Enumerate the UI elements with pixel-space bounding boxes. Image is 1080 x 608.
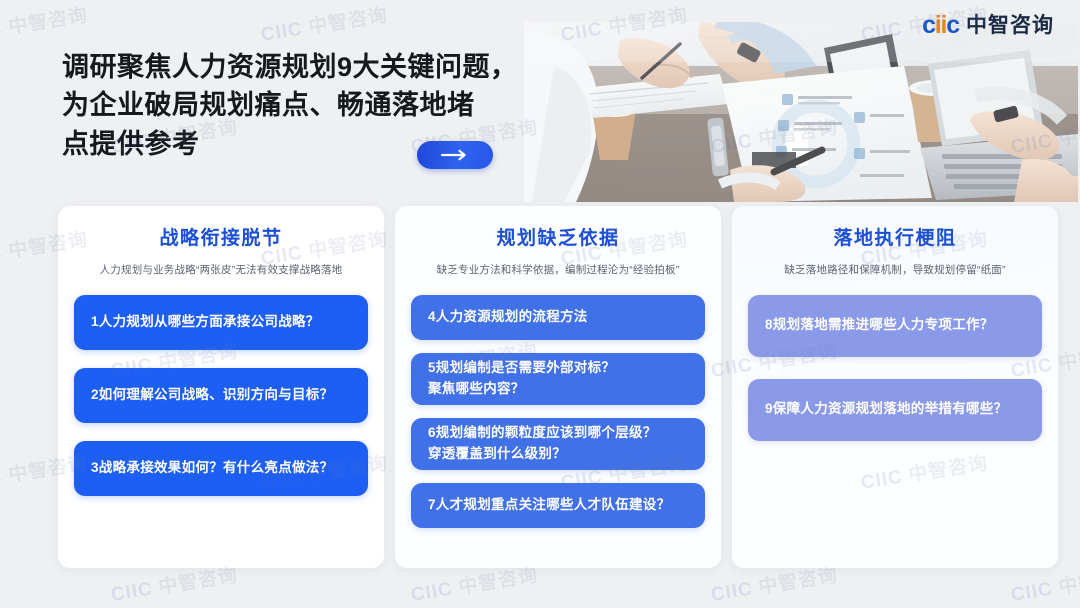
question-pill-1[interactable]: 1人力规划从哪些方面承接公司战略？ — [74, 295, 368, 350]
card-execution-blockage: 落地执行梗阻 缺乏落地路径和保障机制，导致规划停留“纸面” 8规划落地需推进哪些… — [732, 206, 1058, 568]
question-pill-9-line-1: 9保障人力资源规划落地的举措有哪些？ — [765, 399, 1007, 419]
question-pill-8[interactable]: 8规划落地需推进哪些人力专项工作？ — [748, 295, 1042, 357]
question-pill-6[interactable]: 6规划编制的颗粒度应该到哪个层级？ 穿透覆盖到什么级别？ — [411, 418, 705, 470]
question-pill-5[interactable]: 5规划编制是否需要外部对标？ 聚焦哪些内容？ — [411, 353, 705, 405]
card-question-list: 1人力规划从哪些方面承接公司战略？ 2如何理解公司战略、识别方向与目标？ 3战略… — [74, 295, 368, 496]
card-question-list: 4人力资源规划的流程方法 5规划编制是否需要外部对标？ 聚焦哪些内容？ 6规划编… — [411, 295, 705, 528]
question-pill-8-line-1: 8规划落地需推进哪些人力专项工作？ — [765, 315, 994, 335]
question-pill-1-line-1: 1人力规划从哪些方面承接公司战略？ — [91, 312, 320, 332]
question-pill-4-line-1: 4人力资源规划的流程方法 — [428, 307, 588, 327]
logo-chinese-name: 中智咨询 — [966, 15, 1054, 36]
question-pill-6-line-1: 6规划编制的颗粒度应该到哪个层级？ — [428, 423, 657, 443]
meeting-photo-illustration — [524, 22, 1078, 202]
question-pill-9[interactable]: 9保障人力资源规划落地的举措有哪些？ — [748, 379, 1042, 441]
question-pill-2-line-1: 2如何理解公司战略、识别方向与目标？ — [91, 385, 333, 405]
logo-letter-c1: c — [922, 11, 935, 39]
card-title: 战略衔接脱节 — [74, 228, 368, 251]
question-pill-5-line-2: 聚焦哪些内容？ — [428, 379, 615, 399]
brand-logo: ciic 中智咨询 — [922, 13, 1054, 38]
card-title: 落地执行梗阻 — [748, 228, 1042, 251]
issue-cards-row: 战略衔接脱节 人力规划与业务战略“两张皮”无法有效支撑战略落地 1人力规划从哪些… — [0, 206, 1080, 568]
card-lack-of-basis: 规划缺乏依据 缺乏专业方法和科学依据，编制过程沦为“经验拍板” 4人力资源规划的… — [395, 206, 721, 568]
page-title-line-1: 调研聚焦人力资源规划9大关键问题， — [62, 48, 532, 86]
question-pill-2[interactable]: 2如何理解公司战略、识别方向与目标？ — [74, 368, 368, 423]
logo-letter-c2: c — [946, 11, 959, 39]
arrow-right-icon — [440, 149, 470, 161]
question-pill-6-line-2: 穿透覆盖到什么级别？ — [428, 444, 657, 464]
question-pill-4[interactable]: 4人力资源规划的流程方法 — [411, 295, 705, 340]
page-title-line-2: 为企业破局规划痛点、畅通落地堵 — [62, 86, 532, 124]
card-subtitle: 缺乏专业方法和科学依据，编制过程沦为“经验拍板” — [411, 263, 705, 279]
question-pill-5-text: 5规划编制是否需要外部对标？ 聚焦哪些内容？ — [428, 358, 615, 399]
card-subtitle: 人力规划与业务战略“两张皮”无法有效支撑战略落地 — [74, 263, 368, 279]
question-pill-7-line-1: 7人才规划重点关注哪些人才队伍建设？ — [428, 495, 670, 515]
logo-mark: ciic — [922, 13, 959, 38]
question-pill-5-line-1: 5规划编制是否需要外部对标？ — [428, 358, 615, 378]
next-arrow-button[interactable] — [417, 141, 493, 169]
question-pill-3[interactable]: 3战略承接效果如何？有什么亮点做法？ — [74, 441, 368, 496]
slide-root: ciic 中智咨询 调研聚焦人力资源规划9大关键问题， 为企业破局规划痛点、畅通… — [0, 0, 1080, 608]
card-title: 规划缺乏依据 — [411, 228, 705, 251]
question-pill-3-line-1: 3战略承接效果如何？有什么亮点做法？ — [91, 458, 333, 478]
card-subtitle: 缺乏落地路径和保障机制，导致规划停留“纸面” — [748, 263, 1042, 279]
card-strategy-disconnect: 战略衔接脱节 人力规划与业务战略“两张皮”无法有效支撑战略落地 1人力规划从哪些… — [58, 206, 384, 568]
hero-photo — [524, 22, 1078, 202]
logo-letters-ii: ii — [935, 11, 947, 39]
question-pill-7[interactable]: 7人才规划重点关注哪些人才队伍建设？ — [411, 483, 705, 528]
question-pill-6-text: 6规划编制的颗粒度应该到哪个层级？ 穿透覆盖到什么级别？ — [428, 423, 657, 464]
hero-section: ciic 中智咨询 调研聚焦人力资源规划9大关键问题， 为企业破局规划痛点、畅通… — [0, 0, 1080, 200]
card-question-list: 8规划落地需推进哪些人力专项工作？ 9保障人力资源规划落地的举措有哪些？ — [748, 295, 1042, 441]
